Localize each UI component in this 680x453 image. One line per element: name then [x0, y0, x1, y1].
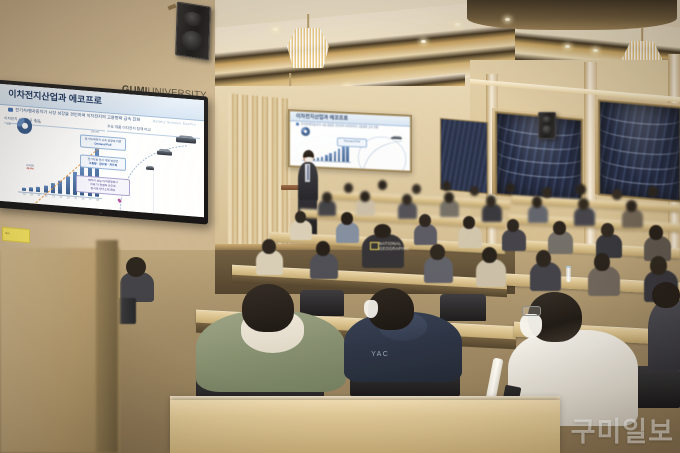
watermark: 구미일보	[571, 410, 674, 449]
photo-vignette	[0, 0, 680, 453]
lecture-hall-photo: GUMIUNIVERSITY 주의 이차전지산업과 에코프로 전기차/행자동차가…	[0, 0, 680, 453]
